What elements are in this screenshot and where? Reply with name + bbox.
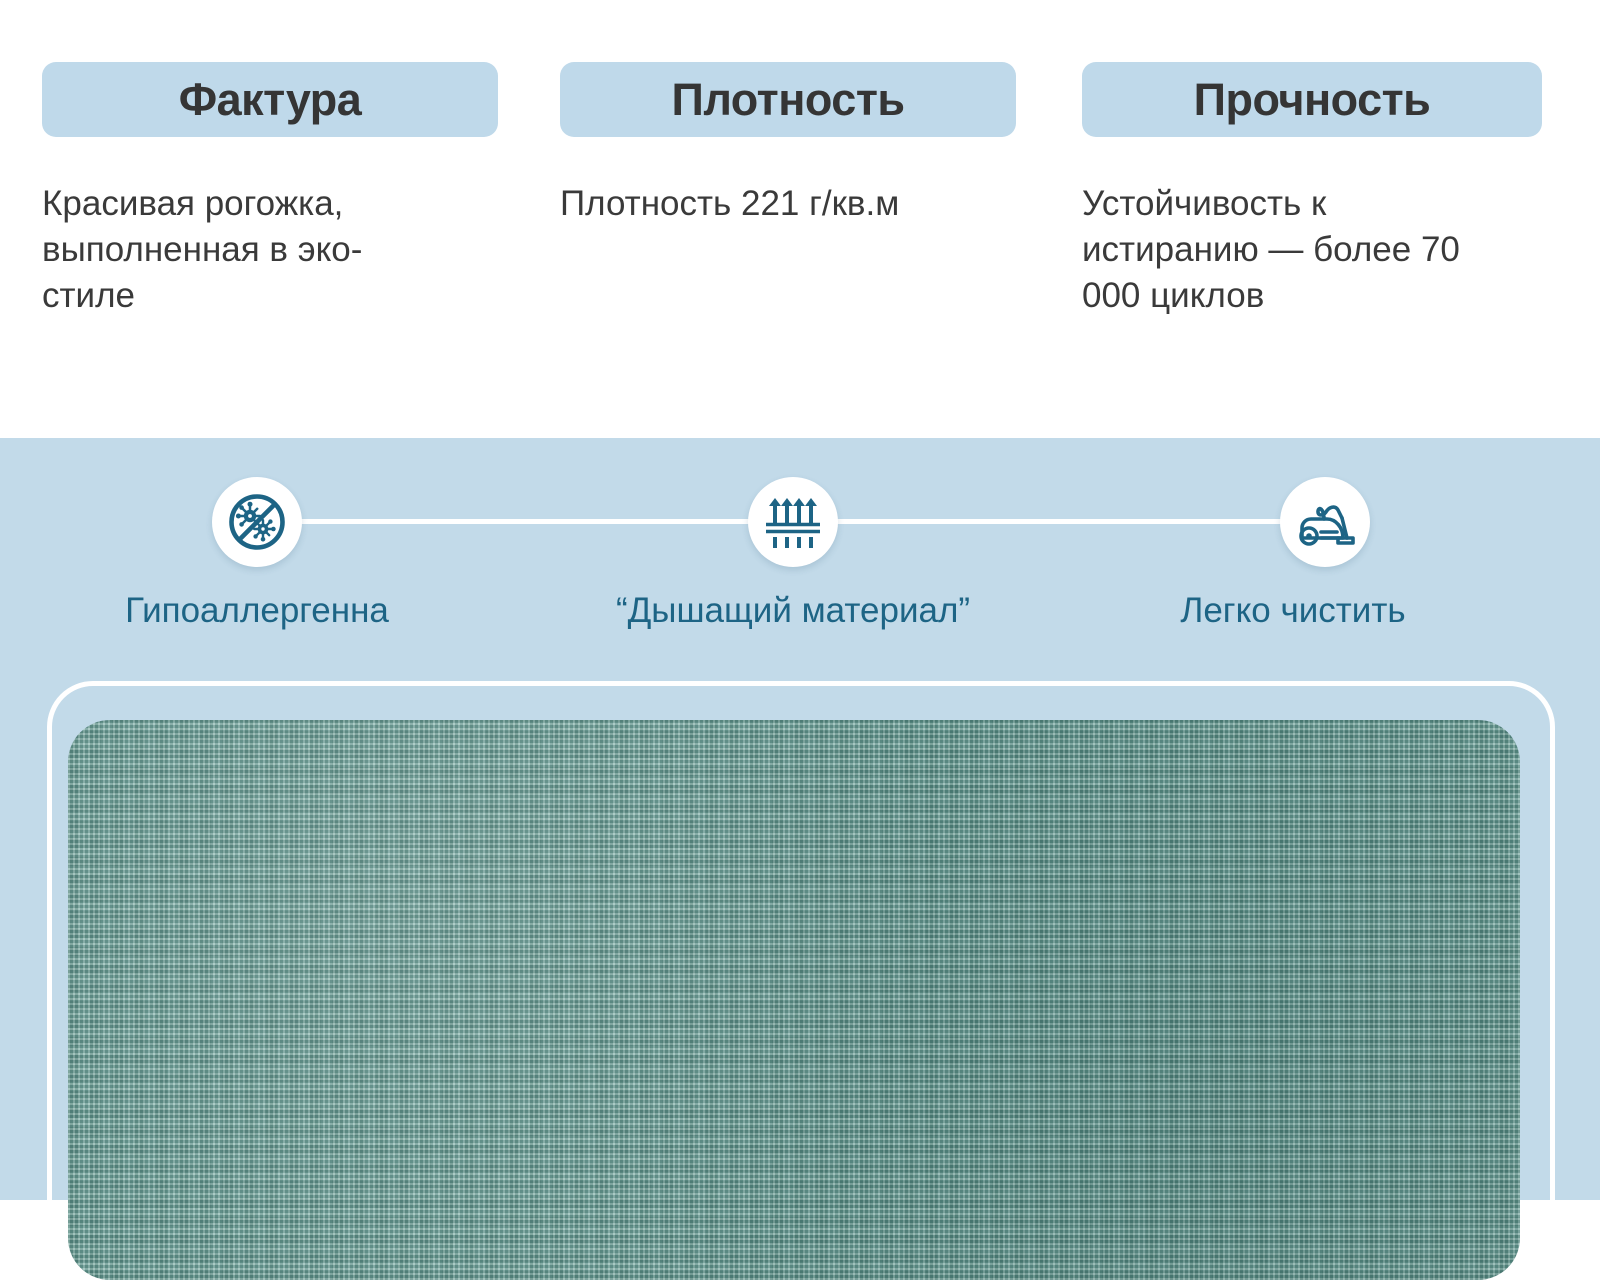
breathable-material-icon — [763, 492, 823, 552]
fabric-sample-image — [68, 720, 1520, 1280]
feature-description-durability: Устойчивость к истиранию — более 70 000 … — [1082, 181, 1502, 320]
feature-badge-label: Фактура — [179, 77, 362, 122]
feature-column-durability: Прочность Устойчивость к истиранию — бол… — [1024, 62, 1536, 320]
benefit-node-hypoallergenic — [212, 477, 302, 567]
benefit-label-easy-clean: Легко чистить — [1093, 590, 1493, 632]
feature-badge-durability: Прочность — [1082, 62, 1542, 137]
feature-badge-label: Прочность — [1194, 77, 1431, 122]
feature-badge-texture: Фактура — [42, 62, 498, 137]
feature-description-density: Плотность 221 г/кв.м — [560, 181, 994, 227]
benefit-icon-circle — [748, 477, 838, 567]
benefit-label-hypoallergenic: Гипоаллергенна — [57, 590, 457, 632]
feature-column-texture: Фактура Красивая рогожка, выполненная в … — [0, 62, 512, 320]
feature-description-texture: Красивая рогожка, выполненная в эко-стил… — [42, 181, 452, 320]
no-allergen-icon — [226, 491, 288, 553]
feature-badge-label: Плотность — [671, 77, 904, 122]
benefits-labels-row: Гипоаллергенна “Дышащий материал” Легко … — [0, 590, 1600, 650]
feature-badge-density: Плотность — [560, 62, 1016, 137]
benefit-icon-circle — [1280, 477, 1370, 567]
features-row: Фактура Красивая рогожка, выполненная в … — [0, 62, 1600, 320]
benefit-label-breathable: “Дышащий материал” — [543, 590, 1043, 632]
benefit-node-easy-clean — [1280, 477, 1370, 567]
benefit-node-breathable — [748, 477, 838, 567]
benefit-icon-circle — [212, 477, 302, 567]
vacuum-cleaner-icon — [1294, 494, 1356, 550]
benefits-section: Гипоаллергенна “Дышащий материал” Легко … — [0, 438, 1600, 1200]
feature-column-density: Плотность Плотность 221 г/кв.м — [512, 62, 1024, 227]
features-section: Фактура Красивая рогожка, выполненная в … — [0, 0, 1600, 438]
